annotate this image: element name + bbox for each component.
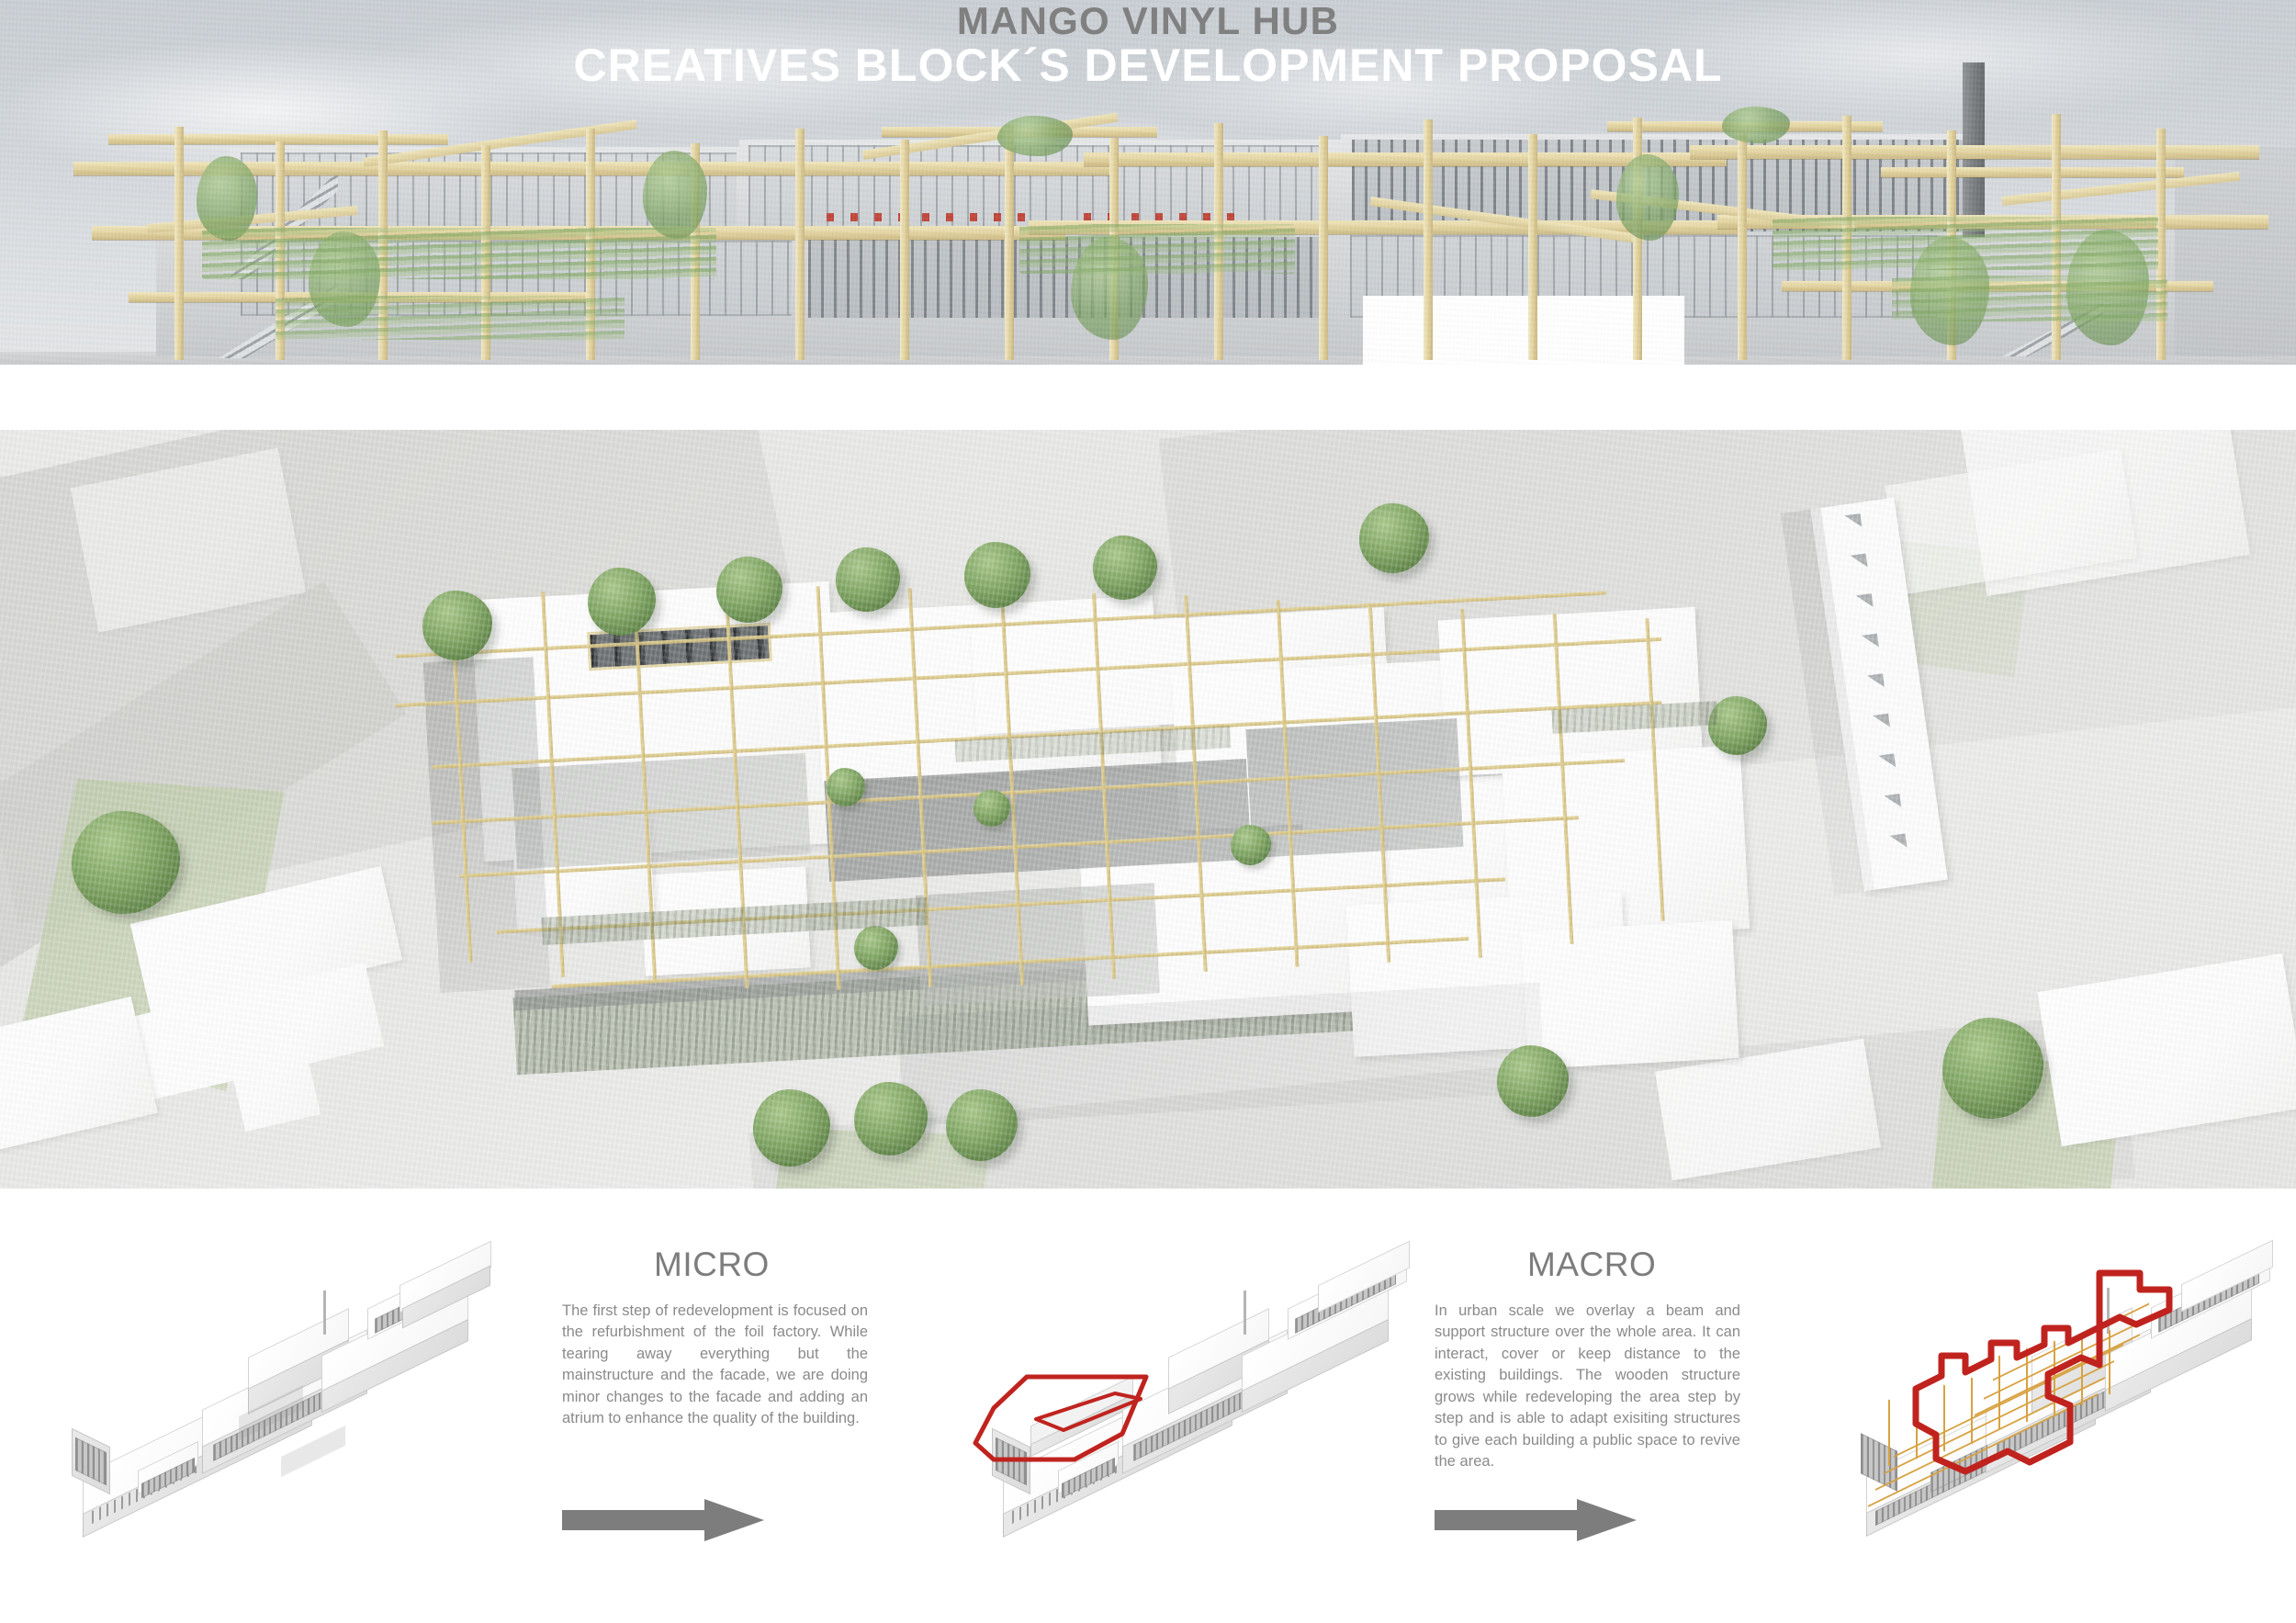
elevation-panel: MANGO VINYL HUB CREATIVES BLOCK´S DEVELO… [0,0,2296,365]
tree-section-3 [643,151,707,239]
red-outline-intervention-zone [1828,1268,2213,1506]
post-9 [1005,125,1014,360]
diagram-strip: MICRO MICRO The first step of redevelopm… [0,1189,2296,1623]
tree-roof-planter [997,116,1073,156]
diagram-step-2 [928,1189,1405,1623]
post-7 [795,129,805,360]
tree-section-5 [1616,154,1679,241]
vine-row-1 [202,228,716,279]
isometric-foil-factory-highlight [946,1239,1414,1515]
step-arrow-1-graphic [562,1499,764,1541]
post-8 [900,140,909,360]
macro-body-text: In urban scale we overlay a beam and sup… [1435,1301,1740,1472]
diagram-step-1: MICRO [0,1189,551,1623]
post-12 [1319,136,1328,360]
step-arrow-2-graphic [1435,1499,1637,1541]
red-highlight-atrium-bar [1027,1393,1146,1439]
title-main: MANGO VINYL HUB [0,0,2296,40]
beam-roof-long-3 [1690,145,2259,159]
post-1 [174,127,184,360]
tree-roof-planter-2 [1722,107,1790,143]
vine-row-4 [276,296,625,340]
board-title: MANGO VINYL HUB CREATIVES BLOCK´S DEVELO… [0,0,2296,88]
diagram-step-3 [1791,1189,2296,1623]
macro-heading: MACRO [1527,1245,1656,1284]
vine-row-2 [1019,224,1295,274]
panel-separator [0,365,2296,430]
post-16 [1738,132,1747,360]
post-13 [1424,119,1433,360]
isometric-beam-overlay [1800,1234,2296,1519]
post-14 [1528,134,1537,360]
title-sub: CREATIVES BLOCK´S DEVELOPMENT PROPOSAL [0,42,2296,88]
presentation-board: MANGO VINYL HUB CREATIVES BLOCK´S DEVELO… [0,0,2296,1623]
beam-roof-upper-d [1881,167,2184,177]
micro-body-text: The first step of redevelopment is focus… [562,1301,868,1430]
vine-row-5 [1892,276,2167,321]
isometric-existing-massing [18,1239,542,1515]
site-plan-panel [0,430,2296,1189]
vine-row-3 [1773,217,2158,270]
micro-heading: MICRO [654,1245,770,1284]
